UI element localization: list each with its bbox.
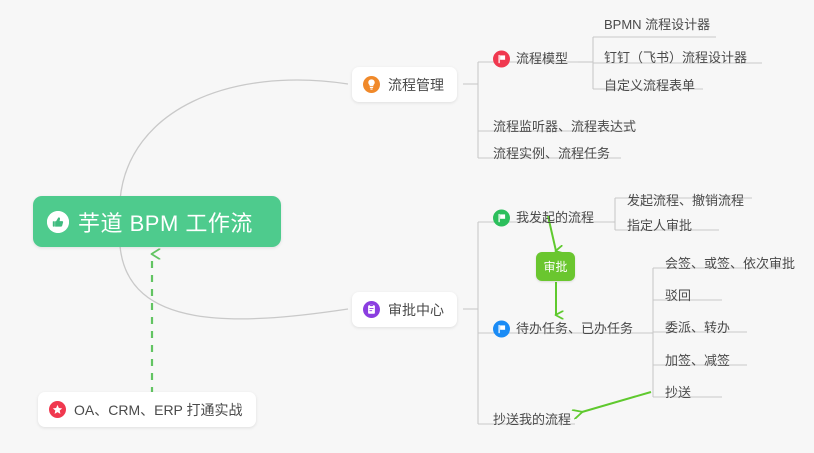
leaf-start-cancel-process[interactable]: 发起流程、撤销流程 (621, 188, 750, 213)
root-label: 芋道 BPM 工作流 (78, 206, 253, 238)
node-cc-to-me-processes[interactable]: 抄送我的流程 (487, 407, 577, 432)
branch-label-process-management: 流程管理 (388, 75, 444, 95)
flag-icon-green (493, 209, 510, 226)
leaf-label: 驳回 (665, 288, 691, 303)
leaf-label: 发起流程、撤销流程 (627, 193, 744, 208)
node-label-process-model: 流程模型 (516, 51, 568, 66)
leaf-custom-process-form[interactable]: 自定义流程表单 (598, 73, 701, 98)
leaf-label: 加签、减签 (665, 353, 730, 368)
leaf-dingtalk-feishu-designer[interactable]: 钉钉（飞书）流程设计器 (598, 45, 753, 70)
footnote-label: OA、CRM、ERP 打通实战 (74, 400, 243, 420)
leaf-bpmn-designer[interactable]: BPMN 流程设计器 (598, 12, 716, 37)
node-label: 我发起的流程 (516, 210, 594, 225)
leaf-reject[interactable]: 驳回 (659, 283, 697, 308)
leaf-label: 会签、或签、依次审批 (665, 256, 795, 271)
leaf-label: 钉钉（飞书）流程设计器 (604, 50, 747, 65)
node-label: 流程监听器、流程表达式 (493, 119, 636, 134)
root-node[interactable]: 芋道 BPM 工作流 (33, 196, 281, 247)
flag-icon-red (493, 50, 510, 67)
lightbulb-icon (363, 76, 380, 93)
node-process-listener-expression[interactable]: 流程监听器、流程表达式 (487, 114, 642, 139)
branch-label-approval-center: 审批中心 (388, 300, 444, 320)
footnote-node-integration[interactable]: OA、CRM、ERP 打通实战 (38, 392, 256, 427)
approval-badge: 审批 (536, 252, 575, 281)
leaf-add-remove-sign[interactable]: 加签、减签 (659, 348, 736, 373)
approval-badge-label: 审批 (543, 258, 567, 275)
leaf-label: 抄送 (665, 385, 691, 400)
leaf-label: BPMN 流程设计器 (604, 17, 710, 32)
flag-icon-blue (493, 320, 510, 337)
node-process-model[interactable]: 流程模型 (490, 46, 574, 71)
star-icon (49, 401, 66, 418)
leaf-countersign-orsign-sequential[interactable]: 会签、或签、依次审批 (659, 251, 801, 276)
node-process-instance-task[interactable]: 流程实例、流程任务 (487, 141, 616, 166)
clipboard-icon (363, 301, 380, 318)
node-label: 待办任务、已办任务 (516, 321, 633, 336)
node-todo-done-tasks[interactable]: 待办任务、已办任务 (490, 316, 639, 341)
leaf-designated-approver[interactable]: 指定人审批 (621, 213, 698, 238)
mindmap-canvas: 芋道 BPM 工作流 流程管理 流程模型 BPMN 流程设计器 钉钉（飞书 (0, 0, 814, 453)
node-label: 抄送我的流程 (493, 412, 571, 427)
leaf-delegate-transfer[interactable]: 委派、转办 (659, 315, 736, 340)
thumbs-up-icon (47, 211, 69, 233)
branch-node-process-management[interactable]: 流程管理 (352, 67, 457, 102)
node-label: 流程实例、流程任务 (493, 146, 610, 161)
leaf-label: 自定义流程表单 (604, 78, 695, 93)
cc-arrow (582, 392, 651, 412)
leaf-label: 委派、转办 (665, 320, 730, 335)
branch-node-approval-center[interactable]: 审批中心 (352, 292, 457, 327)
leaf-cc[interactable]: 抄送 (659, 380, 697, 405)
leaf-label: 指定人审批 (627, 218, 692, 233)
node-my-initiated-processes[interactable]: 我发起的流程 (490, 205, 600, 230)
